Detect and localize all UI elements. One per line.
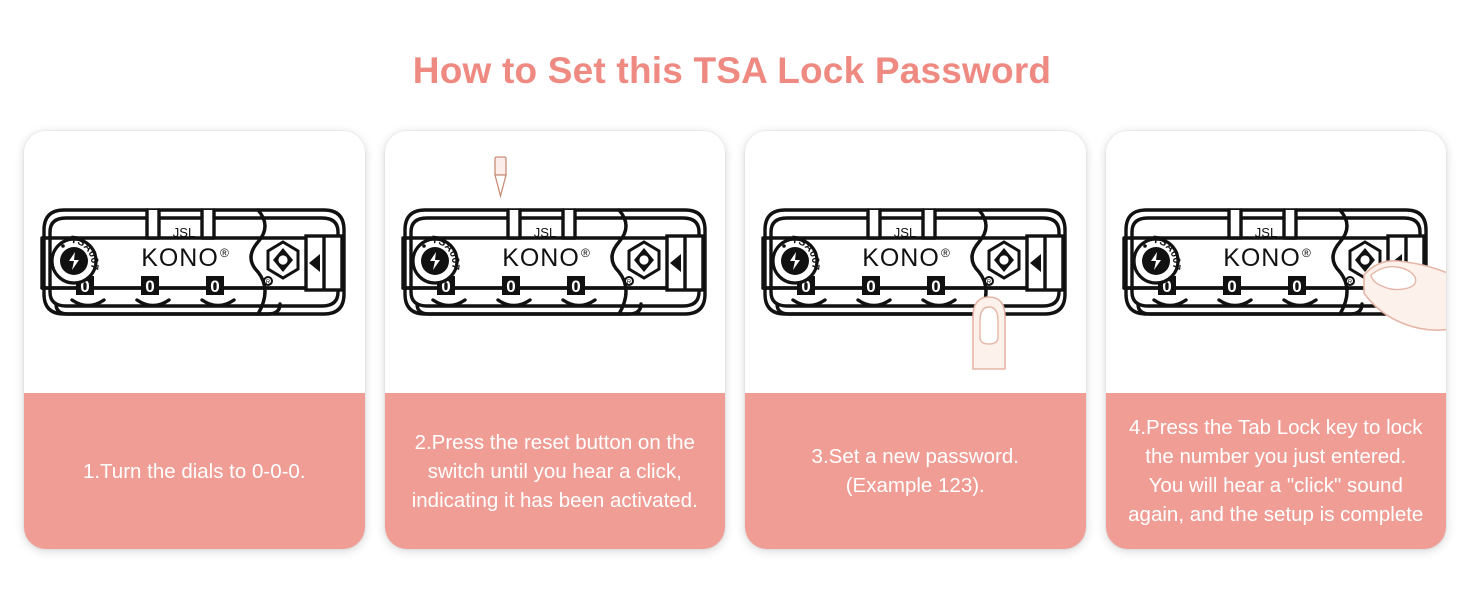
tsa-keyhole-icon[interactable]: TSA007 bbox=[52, 234, 101, 283]
tsa-keyhole-icon[interactable]: TSA007 bbox=[773, 234, 822, 283]
dial-value-2: 0 bbox=[146, 277, 155, 296]
step-4-caption-text: 4.Press the Tab Lock key to lock the num… bbox=[1116, 413, 1437, 529]
tab-lock-slider[interactable] bbox=[1027, 236, 1063, 290]
lock-model-label: JSL bbox=[1255, 225, 1277, 240]
dial-value-3: 0 bbox=[211, 277, 220, 296]
dial-windows[interactable]: 0 0 0 bbox=[1158, 276, 1306, 296]
tab-lock-slider[interactable] bbox=[306, 236, 342, 290]
lock-brand-registered: ® bbox=[581, 246, 590, 260]
lock-model-label: JSL bbox=[894, 225, 916, 240]
step-1-caption: 1.Turn the dials to 0-0-0. bbox=[24, 393, 365, 549]
dial-windows[interactable]: 0 0 0 bbox=[797, 276, 945, 296]
dial-value-2: 0 bbox=[1227, 277, 1236, 296]
step-4-caption: 4.Press the Tab Lock key to lock the num… bbox=[1106, 393, 1447, 549]
lock-brand-registered: ® bbox=[941, 246, 950, 260]
step-2-caption: 2.Press the reset button on the switch u… bbox=[385, 393, 726, 549]
dial-value-3: 0 bbox=[571, 277, 580, 296]
step-card-4[interactable]: 0 0 0 TSA007 JSL K bbox=[1106, 131, 1447, 549]
step-2-caption-text: 2.Press the reset button on the switch u… bbox=[395, 428, 716, 515]
page-title: How to Set this TSA Lock Password bbox=[0, 48, 1464, 94]
step-3-caption: 3.Set a new password. (Example 123). bbox=[745, 393, 1086, 549]
badge-registered-mark: R bbox=[627, 280, 632, 286]
step-1-caption-text: 1.Turn the dials to 0-0-0. bbox=[34, 457, 355, 486]
step-4-illustration: 0 0 0 TSA007 JSL K bbox=[1106, 131, 1447, 393]
step-card-2[interactable]: 0 0 0 TSA007 JSL K bbox=[385, 131, 726, 549]
finger-icon bbox=[959, 281, 1019, 371]
lock-brand-label: KONO bbox=[862, 244, 940, 272]
instruction-infographic: How to Set this TSA Lock Password bbox=[0, 0, 1464, 600]
tab-lock-slider[interactable] bbox=[667, 236, 703, 290]
tsa-lock-icon: 0 0 0 TSA007 JSL K bbox=[395, 192, 715, 332]
lock-brand-label: KONO bbox=[141, 244, 219, 272]
lock-brand-registered: ® bbox=[220, 246, 229, 260]
steps-card-row: 0 0 0 TSA007 bbox=[24, 131, 1446, 549]
dial-windows[interactable]: 0 0 0 bbox=[437, 276, 585, 296]
step-card-1[interactable]: 0 0 0 TSA007 bbox=[24, 131, 365, 549]
tsa-keyhole-icon[interactable]: TSA007 bbox=[1134, 234, 1183, 283]
pin-tool-icon bbox=[487, 155, 513, 199]
badge-registered-mark: R bbox=[266, 280, 271, 286]
dial-value-2: 0 bbox=[506, 277, 515, 296]
step-3-illustration: 0 0 0 TSA007 JSL K bbox=[745, 131, 1086, 393]
dial-value-3: 0 bbox=[1292, 277, 1301, 296]
dial-value-3: 0 bbox=[932, 277, 941, 296]
hexagon-diamond-icon: R bbox=[625, 242, 659, 286]
tsa-lock-icon: 0 0 0 TSA007 JSL K bbox=[755, 192, 1075, 332]
dial-value-2: 0 bbox=[867, 277, 876, 296]
lock-brand-label: KONO bbox=[1223, 244, 1301, 272]
hexagon-diamond-icon: R bbox=[985, 242, 1019, 286]
dial-windows[interactable]: 0 0 0 bbox=[76, 276, 224, 296]
lock-brand-registered: ® bbox=[1302, 246, 1311, 260]
step-1-illustration: 0 0 0 TSA007 bbox=[24, 131, 365, 393]
hexagon-diamond-icon: R bbox=[264, 242, 298, 286]
lock-brand-label: KONO bbox=[502, 244, 580, 272]
step-card-3[interactable]: 0 0 0 TSA007 JSL K bbox=[745, 131, 1086, 549]
finger-icon bbox=[1360, 239, 1447, 335]
badge-registered-mark: R bbox=[1348, 280, 1353, 286]
step-2-illustration: 0 0 0 TSA007 JSL K bbox=[385, 131, 726, 393]
tsa-keyhole-icon[interactable]: TSA007 bbox=[413, 234, 462, 283]
tsa-lock-icon: 0 0 0 TSA007 bbox=[34, 192, 354, 332]
lock-model-label: JSL bbox=[534, 225, 556, 240]
step-3-caption-text: 3.Set a new password. (Example 123). bbox=[755, 442, 1076, 500]
lock-model-label: JSL bbox=[173, 225, 195, 240]
